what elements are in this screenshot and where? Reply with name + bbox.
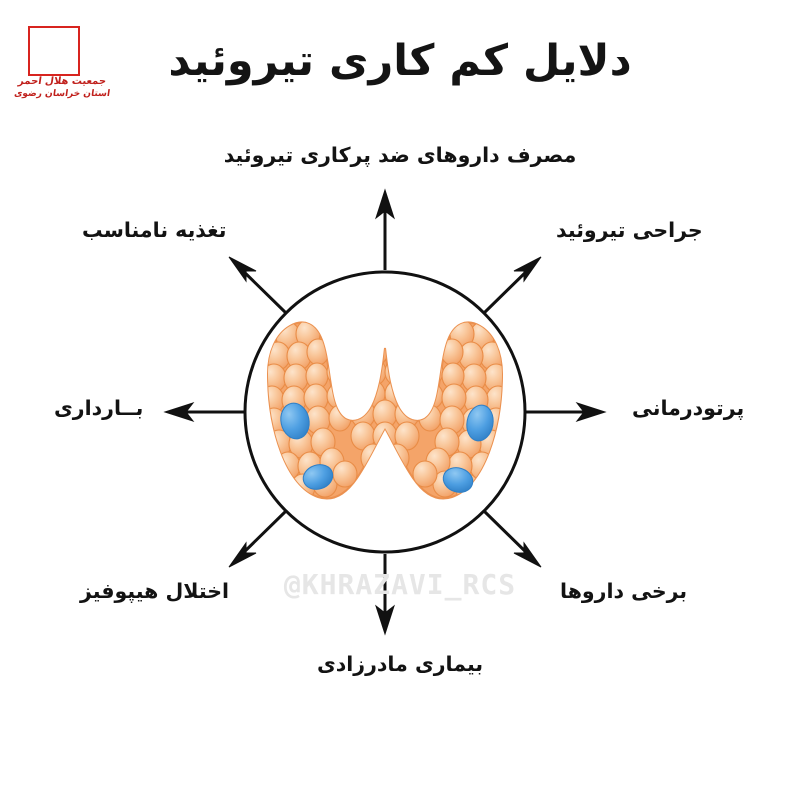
arrow-pituitary-disorder <box>229 511 286 567</box>
cause-label-radiotherapy: پرتودرمانی <box>632 396 744 421</box>
cause-label-pituitary-disorder: اختلال هیپوفیز <box>80 579 229 604</box>
cause-label-antithyroid-drugs: مصرف داروهای ضد پرکاری تیروئید <box>0 143 800 168</box>
cause-label-poor-nutrition: تغذیه نامناسب <box>82 218 226 243</box>
cause-label-congenital-disease: بیماری مادرزادی <box>0 652 800 677</box>
arrow-thyroid-surgery <box>484 257 541 313</box>
arrow-pregnancy <box>165 403 245 421</box>
cause-label-thyroid-surgery: جراحی تیروئید <box>556 218 703 243</box>
arrow-radiotherapy <box>525 403 605 421</box>
arrow-poor-nutrition <box>229 257 286 313</box>
cause-label-pregnancy: بــارداری <box>54 396 143 421</box>
cause-label-some-drugs: برخی داروها <box>560 579 687 604</box>
arrow-some-drugs <box>484 511 541 567</box>
infographic-root: جمعیت هلال احمر استان خراسان رضوی دلایل … <box>0 0 800 795</box>
arrow-antithyroid-drugs <box>376 190 394 270</box>
